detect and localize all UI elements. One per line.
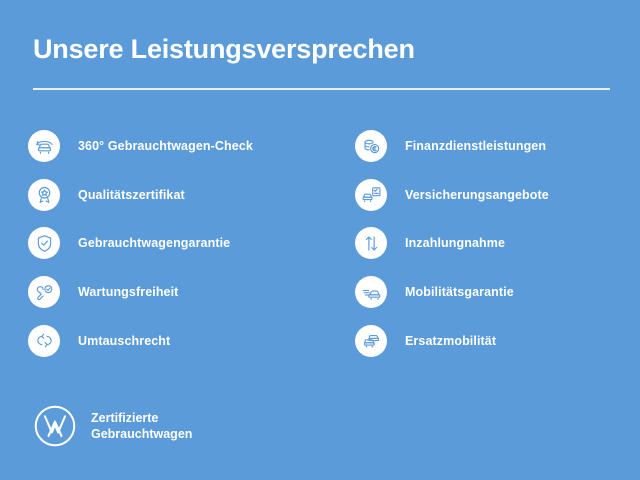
feature-item[interactable]: Inzahlungnahme (355, 219, 635, 268)
award-rosette-icon (28, 179, 60, 211)
car-document-icon (355, 179, 387, 211)
feature-item[interactable]: Qualitätszertifikat (28, 171, 355, 220)
promise-panel: Unsere Leistungsversprechen 360° Gebrauc… (0, 0, 640, 480)
brand-lockup: Zertifizierte Gebrauchtwagen (33, 404, 192, 448)
feature-label: Versicherungsangebote (405, 188, 549, 202)
brand-text: Zertifizierte Gebrauchtwagen (91, 410, 192, 442)
shield-check-icon (28, 227, 60, 259)
car-motion-icon (355, 276, 387, 308)
feature-item[interactable]: Umtauschrecht (28, 316, 355, 365)
features-left-column: 360° Gebrauchtwagen-Check Qualitätszerti… (28, 122, 355, 365)
feature-item[interactable]: Finanzdienstleistungen (355, 122, 635, 171)
feature-item[interactable]: 360° Gebrauchtwagen-Check (28, 122, 355, 171)
feature-label: Mobilitätsgarantie (405, 285, 514, 299)
feature-item[interactable]: Ersatzmobilität (355, 316, 635, 365)
feature-label: Wartungsfreiheit (78, 285, 178, 299)
page-title: Unsere Leistungsversprechen (33, 34, 415, 65)
features-columns: 360° Gebrauchtwagen-Check Qualitätszerti… (0, 122, 640, 365)
feature-item[interactable]: Versicherungsangebote (355, 171, 635, 220)
brand-line-1: Zertifizierte (91, 410, 192, 426)
title-divider (33, 88, 610, 90)
feature-label: Finanzdienstleistungen (405, 139, 546, 153)
two-cars-icon (355, 325, 387, 357)
coins-euro-icon (355, 130, 387, 162)
feature-label: Ersatzmobilität (405, 334, 496, 348)
wrench-check-icon (28, 276, 60, 308)
up-down-arrows-icon (355, 227, 387, 259)
feature-label: 360° Gebrauchtwagen-Check (78, 139, 253, 153)
vw-logo-icon (33, 404, 77, 448)
exchange-arrows-icon (28, 325, 60, 357)
feature-item[interactable]: Wartungsfreiheit (28, 268, 355, 317)
brand-line-2: Gebrauchtwagen (91, 426, 192, 442)
feature-label: Umtauschrecht (78, 334, 170, 348)
feature-item[interactable]: Gebrauchtwagengarantie (28, 219, 355, 268)
feature-item[interactable]: Mobilitätsgarantie (355, 268, 635, 317)
features-right-column: Finanzdienstleistungen Versicherungsange… (355, 122, 635, 365)
car-360-check-icon (28, 130, 60, 162)
feature-label: Qualitätszertifikat (78, 188, 185, 202)
feature-label: Gebrauchtwagengarantie (78, 236, 230, 250)
feature-label: Inzahlungnahme (405, 236, 505, 250)
